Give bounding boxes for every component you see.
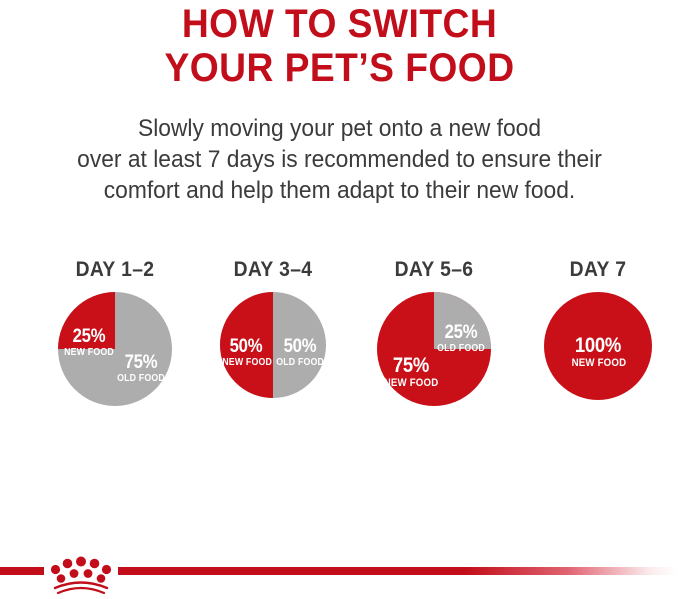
pie-svg-4 bbox=[543, 291, 653, 401]
pie-cell-day-1-2: DAY 1–2 25% NEW FOOD 75% OLD FOOD bbox=[46, 258, 184, 407]
pie-1-slice-new-food bbox=[58, 292, 115, 349]
pie-4-slice-new-food bbox=[544, 292, 652, 400]
footer-bar-left bbox=[0, 567, 44, 575]
page-subtitle: Slowly moving your pet onto a new food o… bbox=[0, 113, 679, 206]
footer-bar-right bbox=[118, 567, 679, 575]
page-subtitle-line-1: Slowly moving your pet onto a new food bbox=[17, 113, 662, 144]
pie-chart-4: 100% NEW FOOD bbox=[543, 291, 653, 401]
page-subtitle-line-3: comfort and help them adapt to their new… bbox=[17, 175, 662, 206]
day-label-4: DAY 7 bbox=[535, 258, 660, 282]
pie-svg-1 bbox=[57, 291, 173, 407]
royal-canin-crown-logo-icon bbox=[46, 556, 116, 594]
pie-svg-3 bbox=[376, 291, 492, 407]
page-title-line-2: YOUR PET’S FOOD bbox=[24, 46, 655, 90]
pie-chart-3: 25% OLD FOOD 75% NEW FOOD bbox=[376, 291, 492, 407]
pie-2-slice-new-food bbox=[220, 292, 273, 398]
day-label-1: DAY 1–2 bbox=[52, 258, 179, 282]
page-title-line-1: HOW TO SWITCH bbox=[24, 2, 655, 46]
day-label-3: DAY 5–6 bbox=[371, 258, 498, 282]
pie-cell-day-3-4: DAY 3–4 50% NEW FOOD 50% OLD FOOD bbox=[205, 258, 341, 399]
page-title: HOW TO SWITCH YOUR PET’S FOOD bbox=[0, 2, 679, 90]
pie-chart-1: 25% NEW FOOD 75% OLD FOOD bbox=[57, 291, 173, 407]
pie-chart-2: 50% NEW FOOD 50% OLD FOOD bbox=[219, 291, 327, 399]
pie-3-slice-old-food bbox=[434, 292, 491, 349]
day-label-2: DAY 3–4 bbox=[210, 258, 335, 282]
footer bbox=[0, 556, 679, 594]
pie-cell-day-7: DAY 7 100% NEW FOOD bbox=[530, 258, 666, 401]
pie-svg-2 bbox=[219, 291, 327, 399]
pie-cell-day-5-6: DAY 5–6 25% OLD FOOD 75% NEW FOOD bbox=[365, 258, 503, 407]
pie-chart-row: DAY 1–2 25% NEW FOOD 75% OLD FOOD DAY 3–… bbox=[0, 258, 679, 438]
page-subtitle-line-2: over at least 7 days is recommended to e… bbox=[17, 144, 662, 175]
